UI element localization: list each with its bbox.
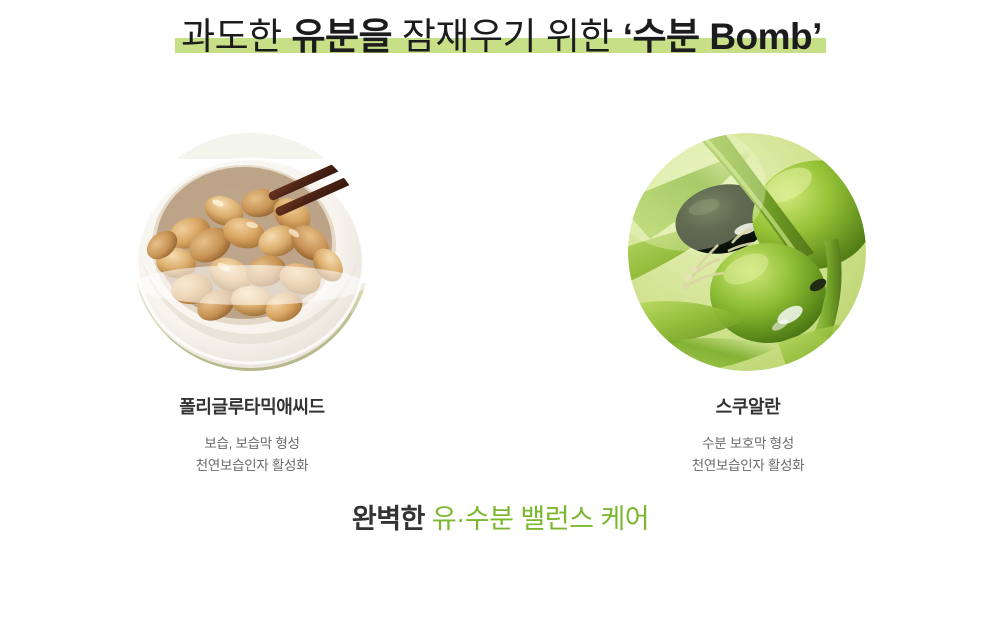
ingredient-card-squalane: 스쿠알란 수분 보호막 형성 천연보습인자 활성화 [628,133,868,477]
tagline-dark-text: 완벽한 [352,504,432,534]
headline-segment-1: 과도한 [181,16,291,57]
ingredient-description-line-2: 천연보습인자 활성화 [132,455,372,477]
headline-segment-3: 잠재우기 위한 [392,16,623,57]
headline-segment-4: ‘수분 Bomb’ [623,16,822,57]
ingredient-columns: 폴리글루타믹애씨드 보습, 보습막 형성 천연보습인자 활성화 [0,133,1001,483]
ingredient-name: 스쿠알란 [628,397,868,419]
olive-photo [628,133,866,371]
headline-segment-2: 유분을 [291,16,392,57]
tagline-green-text: 유·수분 밸런스 케어 [432,504,649,534]
headline-inner: 과도한 유분을 잠재우기 위한 ‘수분 Bomb’ [175,18,826,55]
ingredient-description: 수분 보호막 형성 천연보습인자 활성화 [628,433,868,478]
ingredient-description-line-2: 천연보습인자 활성화 [628,455,868,477]
page-title: 과도한 유분을 잠재우기 위한 ‘수분 Bomb’ [0,18,1001,55]
ingredient-card-polyglutamic-acid: 폴리글루타믹애씨드 보습, 보습막 형성 천연보습인자 활성화 [132,133,372,477]
ingredient-name: 폴리글루타믹애씨드 [132,397,372,419]
footer-tagline: 완벽한 유·수분 밸런스 케어 [0,503,1001,535]
natto-photo [132,133,370,371]
headline-text: 과도한 유분을 잠재우기 위한 ‘수분 Bomb’ [181,16,822,57]
ingredient-description-line-1: 보습, 보습막 형성 [132,433,372,455]
ingredient-description: 보습, 보습막 형성 천연보습인자 활성화 [132,433,372,478]
ingredient-description-line-1: 수분 보호막 형성 [628,433,868,455]
